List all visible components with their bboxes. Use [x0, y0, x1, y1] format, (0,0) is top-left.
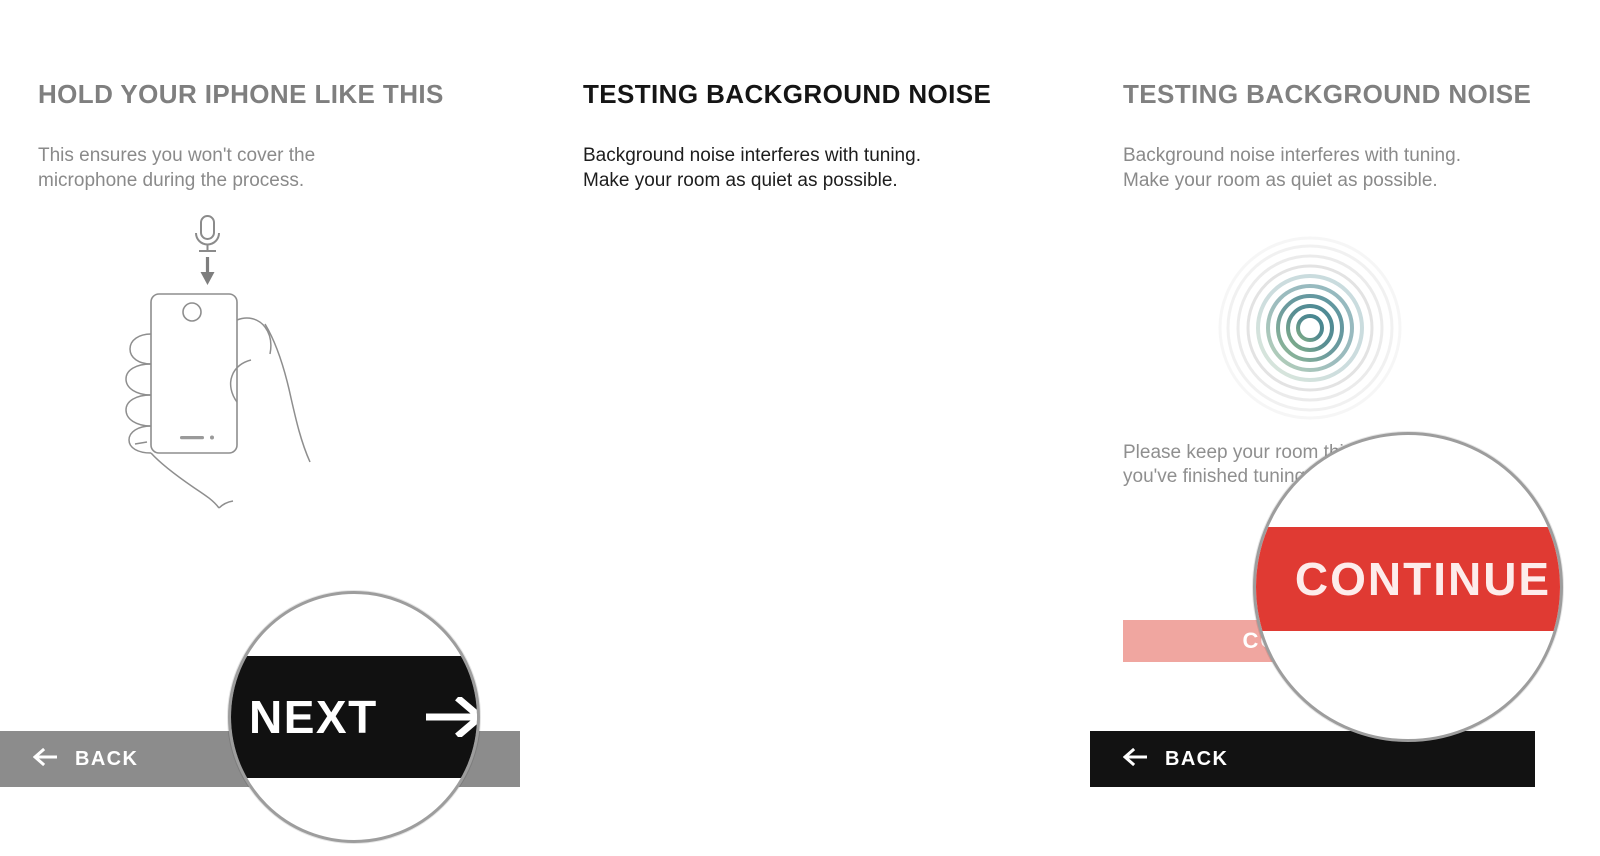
panel-description: Background noise interferes with tuning.… [583, 143, 921, 193]
arrow-right-icon [424, 697, 480, 737]
hand-holding-phone-illustration [95, 212, 355, 517]
magnifier-continue-content: CONTINUE [1256, 435, 1560, 739]
continue-button-magnified[interactable]: CONTINUE [1253, 527, 1563, 631]
page-title: TESTING BACKGROUND NOISE [583, 79, 991, 110]
back-button-label: BACK [75, 748, 138, 771]
magnifier-continue-button: CONTINUE [1253, 432, 1563, 742]
panel-description: Background noise interferes with tuning.… [1123, 143, 1461, 193]
panel-description: This ensures you won't cover the microph… [38, 143, 315, 193]
down-arrow-icon [201, 257, 215, 285]
next-button[interactable]: NEXT [228, 656, 480, 778]
continue-button-label-magnified: CONTINUE [1295, 552, 1551, 606]
microphone-icon [196, 216, 219, 251]
magnifier-next-button: NEXT [228, 591, 480, 843]
phone-outline [151, 294, 237, 453]
magnifier-next-content: NEXT [231, 594, 477, 840]
page-title: HOLD YOUR IPHONE LIKE THIS [38, 79, 444, 110]
panel-testing-noise-listening: TESTING BACKGROUND NOISE Background nois… [545, 0, 990, 856]
page-title: TESTING BACKGROUND NOISE [1123, 79, 1531, 110]
arrow-left-icon [33, 748, 59, 771]
next-button-label: NEXT [249, 690, 378, 744]
